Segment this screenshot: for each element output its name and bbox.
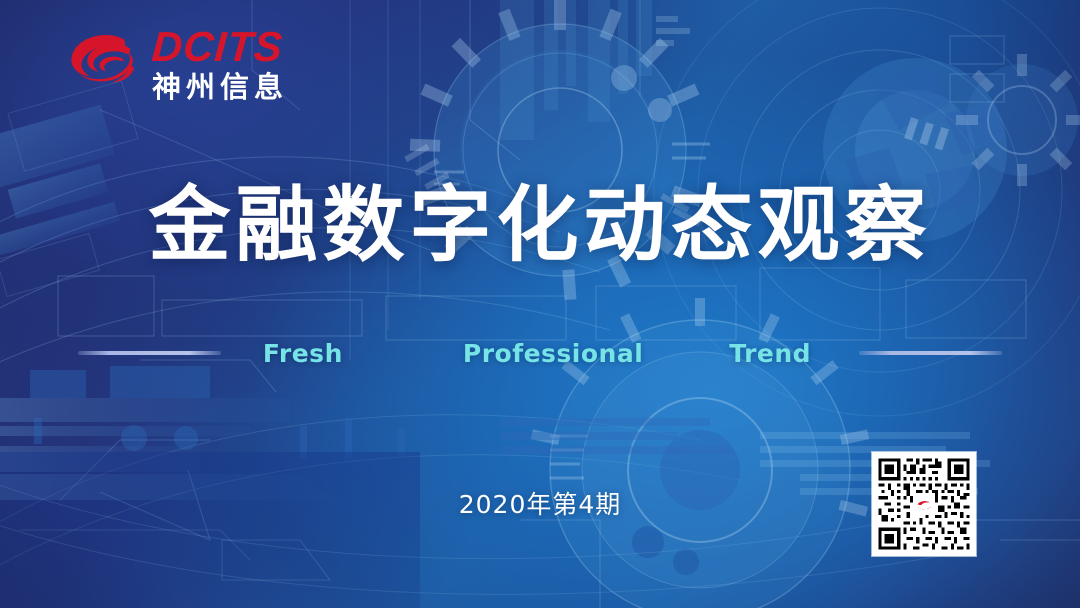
brand-logo[interactable]: DCITS 神州信息 [64,26,288,102]
keyword-professional: Professional [463,339,643,368]
poster-canvas: DCITS 神州信息 金融数字化动态观察 Fresh Professional … [0,0,1080,608]
brand-name-cn: 神州信息 [152,73,288,102]
dcits-swirl-icon [64,26,142,102]
keyword-trend: Trend [729,339,811,368]
divider-line-left [78,351,221,355]
wechat-qr-code[interactable] [872,452,976,556]
page-title: 金融数字化动态观察 [0,183,1080,269]
brand-name-en: DCITS [151,26,290,68]
keyword-fresh: Fresh [263,339,343,368]
divider-line-right [859,351,1002,355]
keyword-row: Fresh Professional Trend [0,336,1080,370]
qr-code-icon [872,452,976,556]
brand-wordmark: DCITS 神州信息 [152,26,288,102]
